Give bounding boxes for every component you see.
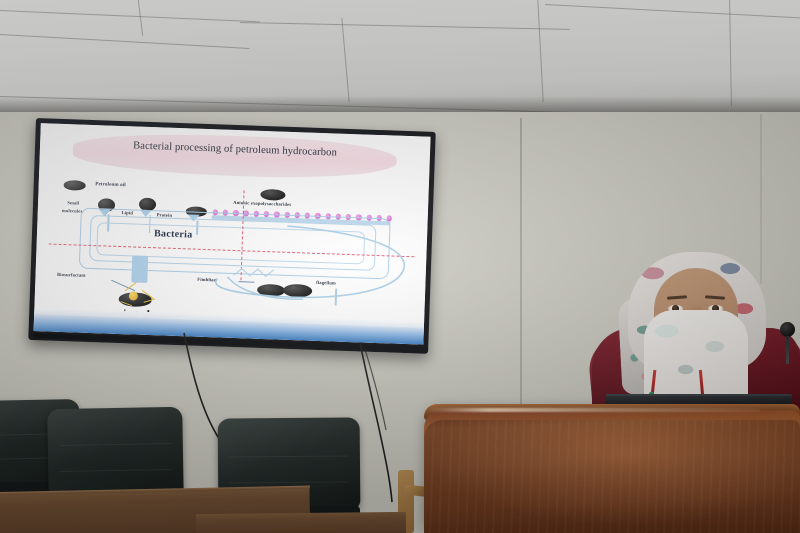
scarf-drape [644, 310, 748, 406]
wall-seam [520, 118, 522, 418]
presentation-slide: Bacterial processing of petroleum hydroc… [34, 123, 431, 344]
foreground-table-extension[interactable] [196, 512, 406, 533]
tv-screen[interactable]: Bacterial processing of petroleum hydroc… [34, 123, 431, 344]
conference-room-scene: Bacterial processing of petroleum hydroc… [0, 0, 800, 533]
wooden-podium [424, 410, 800, 533]
microphone-stem [786, 336, 789, 364]
wall-mounted-display[interactable]: Bacterial processing of petroleum hydroc… [28, 118, 436, 354]
microphone-icon [780, 322, 795, 337]
podium-highlight [430, 408, 760, 412]
ceiling [0, 0, 800, 116]
presenter [592, 252, 800, 412]
